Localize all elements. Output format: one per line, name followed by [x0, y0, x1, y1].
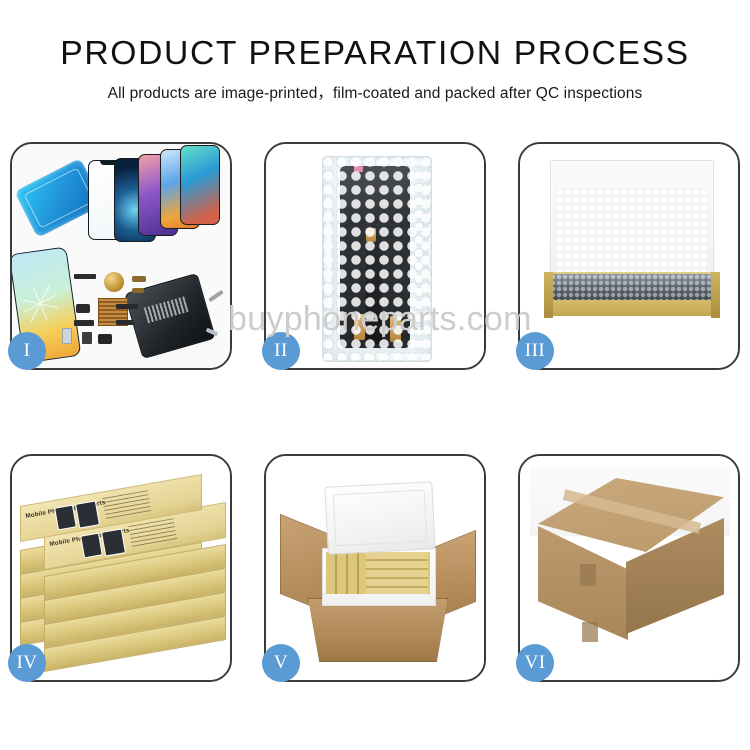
- step-badge-4: IV: [8, 644, 46, 682]
- step-6-image: [520, 456, 738, 680]
- yellow-boxes-inside-2: [366, 552, 428, 594]
- label-sticker: [354, 166, 363, 172]
- small-part-6-icon: [116, 320, 134, 325]
- step-badge-2: II: [262, 332, 300, 370]
- small-part-4-icon: [82, 332, 92, 344]
- step-badge-1: I: [8, 332, 46, 370]
- box-screen-front-2: [101, 528, 126, 556]
- step-3-image: [520, 144, 738, 368]
- box-screen-back-1: [54, 505, 77, 531]
- box-edge-right: [711, 272, 720, 318]
- gold-contact-right: [390, 316, 401, 342]
- small-part-1-icon: [74, 274, 96, 279]
- gold-contact-top: [366, 228, 376, 242]
- small-part-5-icon: [98, 334, 112, 344]
- page-subtitle: All products are image-printed，film-coat…: [0, 81, 750, 103]
- carton-tab-upper: [580, 564, 596, 586]
- step-badge-5: V: [262, 644, 300, 682]
- phone-screen-d-icon: [180, 145, 220, 225]
- foam-sheet: [556, 188, 706, 274]
- small-part-3-icon: [74, 320, 94, 326]
- page-root: PRODUCT PREPARATION PROCESS All products…: [0, 0, 750, 750]
- step-1-image: [12, 144, 230, 368]
- step-panel-3[interactable]: III: [518, 142, 740, 370]
- tweezers-icon: [208, 290, 223, 302]
- process-grid: I II: [10, 142, 740, 682]
- gold-connector-1-icon: [132, 276, 146, 282]
- step-5-image: [266, 456, 484, 680]
- styrofoam-lid: [324, 481, 435, 555]
- step-panel-6[interactable]: VI: [518, 454, 740, 682]
- page-title: PRODUCT PREPARATION PROCESS: [0, 34, 750, 72]
- small-part-2-icon: [76, 304, 90, 313]
- step-4-image: Mobile Phone Spare Parts Mobile Phone Sp…: [12, 456, 230, 680]
- gold-connector-2-icon: [132, 288, 144, 293]
- carton-body: [308, 598, 448, 662]
- small-part-7-icon: [116, 304, 138, 309]
- phone-backplate-icon: [124, 273, 216, 359]
- step-badge-3: III: [516, 332, 554, 370]
- step-panel-5[interactable]: V: [264, 454, 486, 682]
- speaker-part-icon: [104, 272, 124, 292]
- header: PRODUCT PREPARATION PROCESS All products…: [0, 0, 750, 103]
- gold-contact-left: [354, 314, 365, 340]
- carton-tab-lower: [582, 622, 598, 642]
- box-edge-left: [544, 272, 553, 318]
- step-panel-4[interactable]: Mobile Phone Spare Parts Mobile Phone Sp…: [10, 454, 232, 682]
- step-2-image: [266, 144, 484, 368]
- box-screen-front-1: [80, 533, 103, 559]
- step-panel-1[interactable]: I: [10, 142, 232, 370]
- box-screen-back-2: [75, 500, 100, 528]
- flex-cable: [366, 236, 382, 344]
- step-panel-2[interactable]: II: [264, 142, 486, 370]
- step-badge-6: VI: [516, 644, 554, 682]
- bubble-texture: [550, 274, 712, 300]
- small-part-8-icon: [62, 328, 72, 344]
